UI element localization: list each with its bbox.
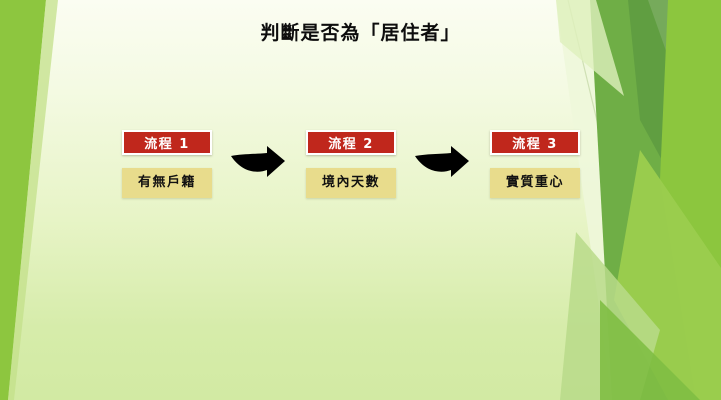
flow-step-3: 流程 3 實質重心: [490, 130, 580, 198]
flow-step-3-header: 流程 3: [490, 130, 580, 155]
flow-step-3-body: 實質重心: [490, 168, 580, 198]
flow-step-2: 流程 2 境內天數: [306, 130, 396, 198]
slide-canvas: 判斷是否為「居住者」 流程 1 有無戶籍 流程 2 境內天數 流程 3 實質重心: [0, 0, 721, 400]
left-green-wedge: [0, 0, 46, 400]
arrow-right-icon: [229, 143, 287, 177]
left-green-wedge-soft: [8, 0, 58, 400]
flow-step-1-body: 有無戶籍: [122, 168, 212, 198]
flow-step-1: 流程 1 有無戶籍: [122, 130, 212, 198]
flow-step-1-header: 流程 1: [122, 130, 212, 155]
flow-step-2-body: 境內天數: [306, 168, 396, 198]
right-pale-band: [556, 0, 700, 400]
background-decoration: [0, 0, 721, 400]
green-shape-top-light: [556, 0, 624, 96]
green-shape-pale-lower: [560, 232, 660, 400]
arrow-right-icon: [413, 143, 471, 177]
green-shape-pale-lower2: [600, 300, 700, 400]
diagonal-hairline: [568, 0, 664, 400]
green-shape-darkleft: [590, 0, 721, 400]
page-title: 判斷是否為「居住者」: [0, 18, 721, 45]
flow-step-2-header: 流程 2: [306, 130, 396, 155]
green-shape-brightright: [660, 0, 721, 400]
green-shape-light-mid: [614, 150, 721, 400]
